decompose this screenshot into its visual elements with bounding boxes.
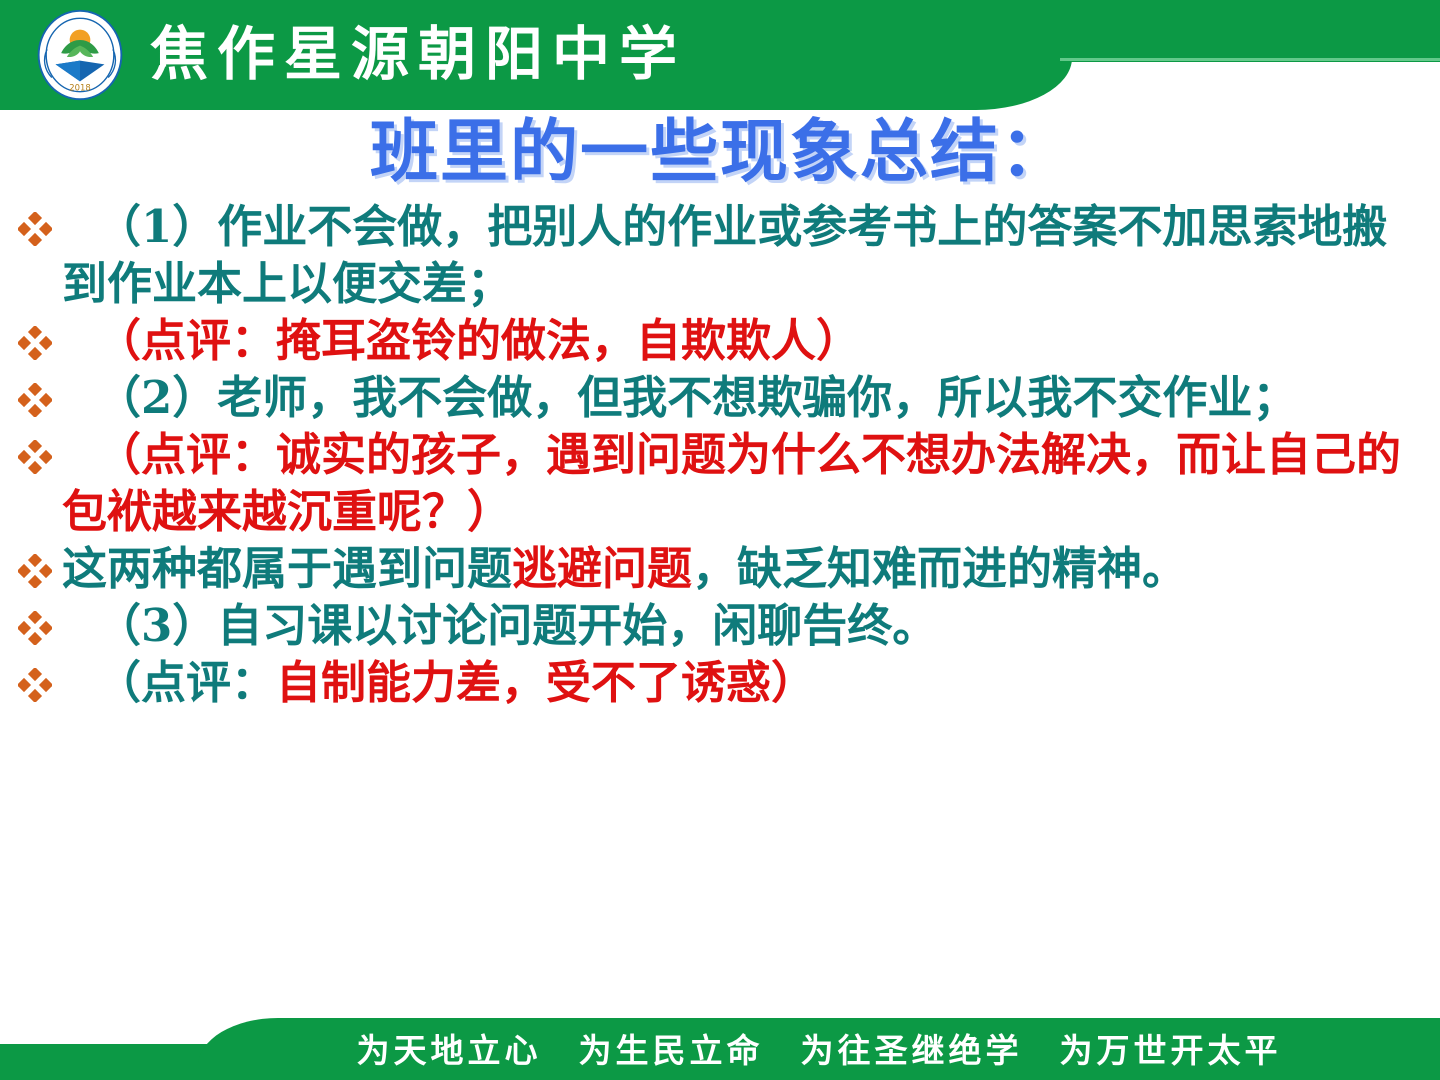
- diamond-cluster-bullet-icon: [18, 212, 52, 246]
- page-title: 班里的一些现象总结：: [0, 110, 1440, 194]
- bullet-text: （点评：掩耳盗铃的做法，自欺欺人）: [62, 312, 1432, 369]
- bullet-text: （3）自习课以讨论问题开始，闲聊告终。: [62, 597, 1432, 654]
- bullet-list: （1）作业不会做，把别人的作业或参考书上的答案不加思索地搬到作业本上以便交差；（…: [0, 198, 1440, 711]
- bullet-text: 这两种都属于遇到问题逃避问题，缺乏知难而进的精神。: [62, 540, 1432, 597]
- diamond-cluster-bullet-icon: [18, 611, 52, 645]
- diamond-cluster-bullet-icon: [18, 554, 52, 588]
- bullet-segment-red: （点评：掩耳盗铃的做法，自欺欺人）: [96, 314, 861, 367]
- bullet-segment-teal: （2）老师，我不会做，但我不想欺骗你，所以我不交作业；: [96, 371, 1297, 424]
- school-crest-icon: 2018: [33, 8, 127, 102]
- svg-text:2018: 2018: [69, 83, 91, 93]
- bullet-segment-red: 自制能力差，受不了诱惑）: [276, 656, 816, 709]
- bullet-row: （2）老师，我不会做，但我不想欺骗你，所以我不交作业；: [0, 369, 1440, 426]
- bullet-row: 这两种都属于遇到问题逃避问题，缺乏知难而进的精神。: [0, 540, 1440, 597]
- bullet-segment-red: 逃避问题: [512, 542, 692, 595]
- bullet-text: （点评：自制能力差，受不了诱惑）: [62, 654, 1432, 711]
- diamond-cluster-bullet-icon: [18, 383, 52, 417]
- bullet-row: （点评：自制能力差，受不了诱惑）: [0, 654, 1440, 711]
- bullet-segment-teal: （点评：: [96, 656, 276, 709]
- bullet-row: （1）作业不会做，把别人的作业或参考书上的答案不加思索地搬到作业本上以便交差；: [0, 198, 1440, 312]
- bullet-text: （点评：诚实的孩子，遇到问题为什么不想办法解决，而让自己的包袱越来越沉重呢？）: [62, 426, 1432, 540]
- bullet-segment-teal: 这两种都属于遇到问题: [62, 542, 512, 595]
- footer-motto-text: 为天地立心 为生民立命 为往圣继绝学 为万世开太平: [198, 1018, 1440, 1080]
- bullet-text: （1）作业不会做，把别人的作业或参考书上的答案不加思索地搬到作业本上以便交差；: [62, 198, 1432, 312]
- bullet-text: （2）老师，我不会做，但我不想欺骗你，所以我不交作业；: [62, 369, 1432, 426]
- diamond-cluster-bullet-icon: [18, 668, 52, 702]
- bullet-row: （3）自习课以讨论问题开始，闲聊告终。: [0, 597, 1440, 654]
- bullet-row: （点评：诚实的孩子，遇到问题为什么不想办法解决，而让自己的包袱越来越沉重呢？）: [0, 426, 1440, 540]
- diamond-cluster-bullet-icon: [18, 326, 52, 360]
- bullet-segment-teal: （3）自习课以讨论问题开始，闲聊告终。: [96, 599, 937, 652]
- header-hairline-divider: [1060, 58, 1440, 61]
- bullet-segment-red: （点评：诚实的孩子，遇到问题为什么不想办法解决，而让自己的包袱越来越沉重呢？）: [62, 428, 1401, 538]
- bullet-segment-teal: ，缺乏知难而进的精神。: [692, 542, 1187, 595]
- diamond-cluster-bullet-icon: [18, 440, 52, 474]
- bullet-row: （点评：掩耳盗铃的做法，自欺欺人）: [0, 312, 1440, 369]
- slide-canvas: 2018 焦作星源朝阳中学 班里的一些现象总结： （1）作业不会做，把别人的作业…: [0, 0, 1440, 1080]
- bullet-segment-teal: （1）作业不会做，把别人的作业或参考书上的答案不加思索地搬到作业本上以便交差；: [62, 200, 1387, 310]
- school-name-title: 焦作星源朝阳中学: [150, 16, 686, 92]
